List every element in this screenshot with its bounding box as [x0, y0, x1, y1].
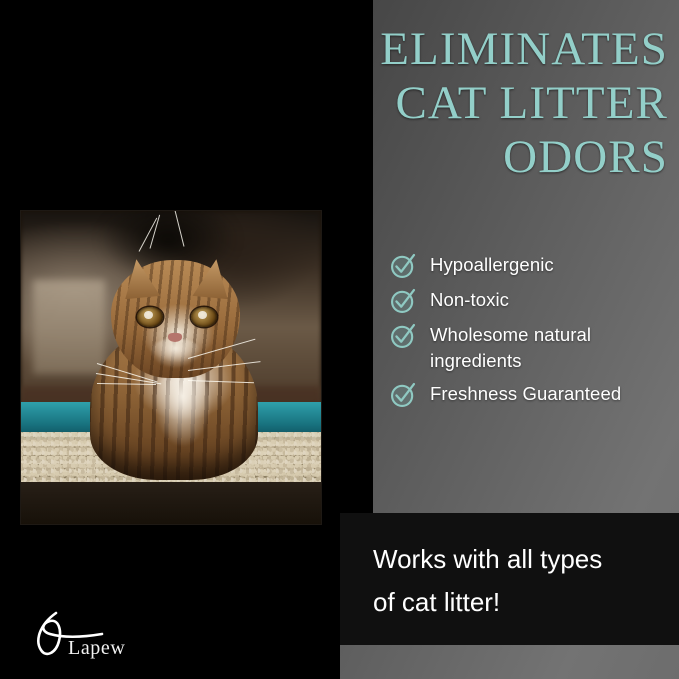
headline: ELIMINATES CAT LITTER ODORS	[268, 22, 668, 184]
benefit-label: Freshness Guaranteed	[430, 380, 621, 407]
benefits-list: Hypoallergenic Non-toxic Wholesome natur…	[389, 251, 674, 415]
kitten-eye-left	[137, 307, 163, 327]
headline-line-2: CAT LITTER	[268, 76, 668, 130]
product-poster: ELIMINATES CAT LITTER ODORS	[0, 0, 679, 679]
check-circle-icon	[389, 252, 417, 280]
kitten-head	[111, 260, 240, 377]
benefit-item: Freshness Guaranteed	[389, 380, 674, 409]
check-circle-icon	[389, 287, 417, 315]
benefit-item: Non-toxic	[389, 286, 674, 315]
kitten-ear-left	[123, 259, 160, 299]
callout-text: Works with all types of cat litter!	[373, 538, 653, 624]
benefit-item: Hypoallergenic	[389, 251, 674, 280]
kitten-ear-right	[192, 259, 229, 299]
kitten-chest-fur	[153, 368, 212, 446]
kitten-figure	[87, 236, 261, 480]
callout-line-2: of cat litter!	[373, 581, 653, 624]
callout-line-1: Works with all types	[373, 538, 653, 581]
check-circle-icon	[389, 322, 417, 350]
brand-wordmark: Lapew	[68, 637, 125, 660]
benefit-label: Non-toxic	[430, 286, 509, 313]
benefit-item: Wholesome natural ingredients	[389, 321, 674, 374]
headline-line-1: ELIMINATES	[268, 22, 668, 76]
check-circle-icon	[389, 381, 417, 409]
benefit-label: Hypoallergenic	[430, 251, 554, 278]
kitten-muzzle	[150, 338, 202, 368]
kitten-eye-right	[191, 307, 217, 327]
callout-box: Works with all types of cat litter!	[340, 513, 679, 645]
brand-logo: Lapew	[26, 607, 156, 665]
headline-line-3: ODORS	[268, 130, 668, 184]
benefit-label: Wholesome natural ingredients	[430, 321, 674, 374]
photo-scene	[21, 211, 321, 524]
kitten-photo	[21, 211, 321, 524]
